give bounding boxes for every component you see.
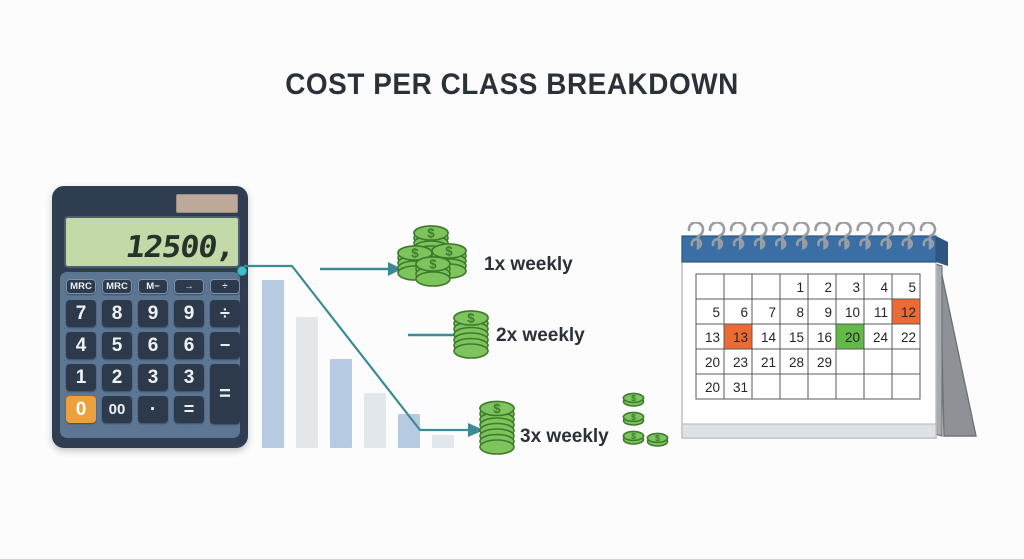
- calc-key-r2c3[interactable]: 9: [174, 300, 204, 327]
- calc-key-equals-tall[interactable]: =: [210, 364, 240, 424]
- svg-text:13: 13: [705, 330, 720, 345]
- bar-chart: [262, 280, 462, 448]
- connector-origin-dot: [237, 266, 247, 276]
- calc-key-r2c1[interactable]: 8: [102, 300, 132, 327]
- calc-key-mrc-r1c0[interactable]: MRC: [66, 279, 96, 294]
- calc-key-r4c1[interactable]: 2: [102, 364, 132, 391]
- svg-text:21: 21: [761, 355, 776, 370]
- calc-key-r3c4[interactable]: −: [210, 332, 240, 359]
- calc-key--r1c3[interactable]: →: [174, 279, 204, 294]
- svg-text:24: 24: [873, 330, 889, 345]
- calc-key-r3c3[interactable]: 6: [174, 332, 204, 359]
- svg-text:31: 31: [733, 380, 748, 395]
- chart-bar: [262, 280, 284, 448]
- calc-key-r2c0[interactable]: 7: [66, 300, 96, 327]
- svg-text:3: 3: [852, 280, 860, 295]
- coin-cluster-1x: $$$$: [396, 216, 482, 288]
- calc-key-r5c3[interactable]: =: [174, 396, 204, 423]
- svg-text:$: $: [493, 401, 501, 416]
- svg-text:$: $: [467, 310, 475, 325]
- calc-key-mrc-r1c1[interactable]: MRC: [102, 279, 132, 294]
- svg-text:20: 20: [705, 355, 720, 370]
- calc-key-r3c0[interactable]: 4: [66, 332, 96, 359]
- svg-text:16: 16: [817, 330, 832, 345]
- svg-text:2: 2: [824, 280, 832, 295]
- tier-label-1x: 1x weekly: [484, 254, 573, 276]
- svg-text:5: 5: [712, 305, 720, 320]
- calc-key-r3c1[interactable]: 5: [102, 332, 132, 359]
- svg-text:$: $: [429, 256, 437, 271]
- svg-text:11: 11: [874, 305, 888, 320]
- chart-bar: [296, 317, 318, 448]
- chart-bar: [364, 393, 386, 448]
- calculator-keypad: MRCMRCM−→÷7899÷4566−1233000·==: [60, 272, 240, 438]
- calc-key-r4c0[interactable]: 1: [66, 364, 96, 391]
- svg-text:10: 10: [845, 305, 860, 320]
- page-title: COST PER CLASS BREAKDOWN: [36, 68, 988, 102]
- coin-cluster-3x: $: [478, 396, 516, 461]
- svg-text:29: 29: [817, 355, 832, 370]
- coin-cluster-2x: $: [452, 306, 490, 365]
- svg-text:23: 23: [733, 355, 748, 370]
- chart-bar: [398, 414, 420, 448]
- svg-text:20: 20: [845, 330, 860, 345]
- svg-text:4: 4: [880, 280, 888, 295]
- loose-coin: $: [622, 430, 645, 451]
- tier-label-3x: 3x weekly: [520, 426, 609, 448]
- calc-key-r2c2[interactable]: 9: [138, 300, 168, 327]
- svg-text:9: 9: [824, 305, 832, 320]
- svg-text:13: 13: [733, 330, 748, 345]
- svg-text:12: 12: [901, 305, 916, 320]
- chart-bar: [330, 359, 352, 448]
- calculator-display-value: 12500,: [123, 230, 236, 265]
- svg-text:14: 14: [761, 330, 777, 345]
- svg-text:$: $: [631, 412, 636, 422]
- coin-stack: $: [414, 248, 452, 293]
- svg-text:28: 28: [789, 355, 804, 370]
- calc-key--r1c4[interactable]: ÷: [210, 279, 240, 294]
- svg-text:5: 5: [908, 280, 916, 295]
- calc-key-m-r1c2[interactable]: M−: [138, 279, 168, 294]
- calc-key-r3c2[interactable]: 6: [138, 332, 168, 359]
- svg-text:22: 22: [901, 330, 916, 345]
- svg-text:20: 20: [705, 380, 720, 395]
- loose-coin: $: [622, 411, 645, 432]
- calc-key-r5c0[interactable]: 0: [66, 396, 96, 423]
- svg-text:$: $: [655, 433, 660, 443]
- loose-coin: $: [622, 392, 645, 413]
- calc-key-r5c2[interactable]: ·: [138, 396, 168, 423]
- chart-bar: [432, 435, 454, 448]
- loose-coin: $: [646, 432, 669, 453]
- svg-text:8: 8: [796, 305, 804, 320]
- desk-calendar-illustration: 1234556789101112131314151620242220232128…: [676, 222, 988, 457]
- svg-text:15: 15: [789, 330, 804, 345]
- svg-text:7: 7: [768, 305, 776, 320]
- tier-label-2x: 2x weekly: [496, 325, 585, 347]
- calc-key-r4c3[interactable]: 3: [174, 364, 204, 391]
- loose-coins-group: $$$$: [622, 392, 678, 452]
- infographic-canvas: COST PER CLASS BREAKDOWN 12500, MRCMRCM−…: [0, 0, 1024, 559]
- calc-key-r5c1[interactable]: 00: [102, 396, 132, 423]
- calculator-illustration: 12500, MRCMRCM−→÷7899÷4566−1233000·==: [52, 186, 248, 448]
- svg-text:$: $: [631, 393, 636, 403]
- svg-text:1: 1: [796, 280, 804, 295]
- calc-key-r2c4[interactable]: ÷: [210, 300, 240, 327]
- svg-text:6: 6: [740, 305, 748, 320]
- solar-panel: [176, 194, 238, 213]
- svg-text:$: $: [631, 431, 636, 441]
- calc-key-r4c2[interactable]: 3: [138, 364, 168, 391]
- calculator-screen: 12500,: [64, 216, 240, 268]
